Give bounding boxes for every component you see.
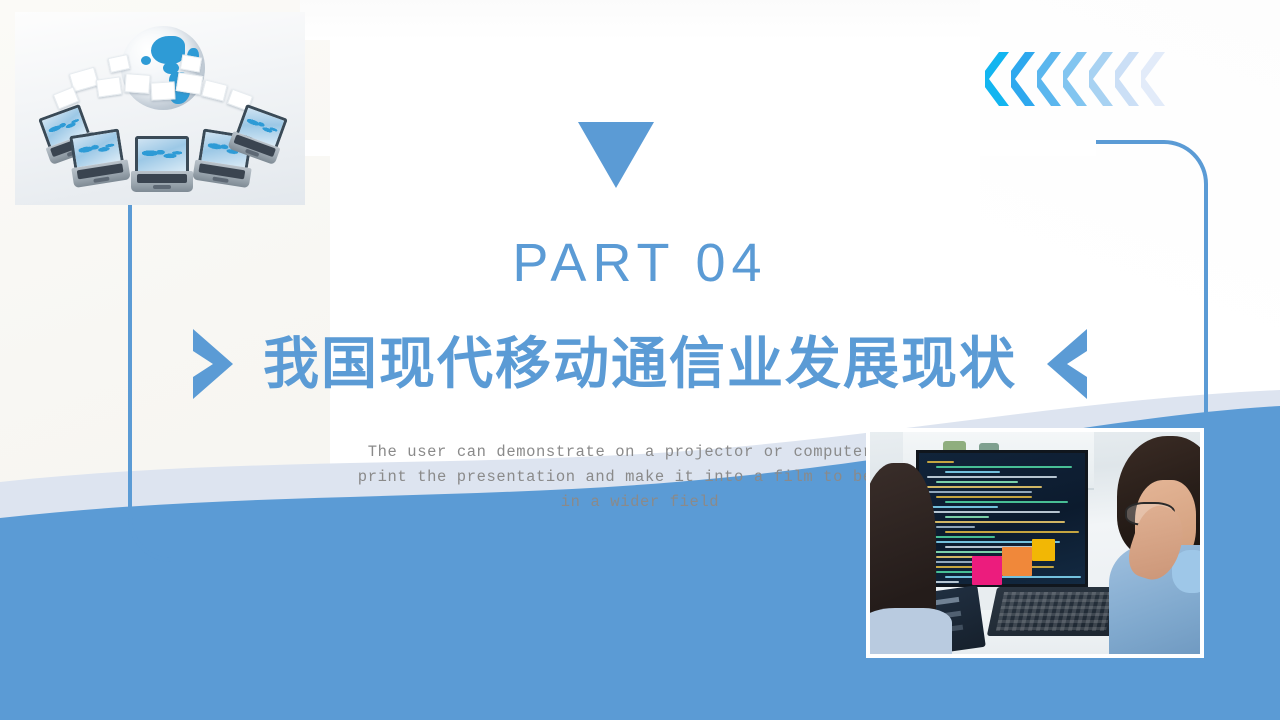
page-title: 我国现代移动通信业发展现状 [263, 336, 1017, 392]
chevron-left-icon [1039, 325, 1093, 403]
presentation-slide: PART 04 我国现代移动通信业发展现状 The user can demon… [0, 0, 1280, 720]
chevron-left-icon-1 [985, 50, 1011, 108]
laptop-3 [135, 136, 189, 192]
chevron-left-icon-2 [1011, 50, 1037, 108]
person-right-graphic [1088, 436, 1204, 654]
globe-network-image [15, 12, 305, 205]
chevron-left-icon-5 [1089, 50, 1115, 108]
part-label: PART 04 [0, 232, 1280, 294]
chevron-right-icon [187, 325, 241, 403]
triangle-down-icon [578, 122, 654, 188]
chevron-left-icon-6 [1115, 50, 1141, 108]
chevron-left-icon-7 [1141, 50, 1167, 108]
person-left-graphic [866, 463, 936, 654]
chevron-left-icon-4 [1063, 50, 1089, 108]
laptop-2 [69, 128, 127, 187]
code-review-photo [866, 428, 1204, 658]
title-row: 我国现代移动通信业发展现状 [0, 322, 1280, 406]
chevron-arrow-group [985, 50, 1170, 108]
chevron-left-icon-3 [1037, 50, 1063, 108]
